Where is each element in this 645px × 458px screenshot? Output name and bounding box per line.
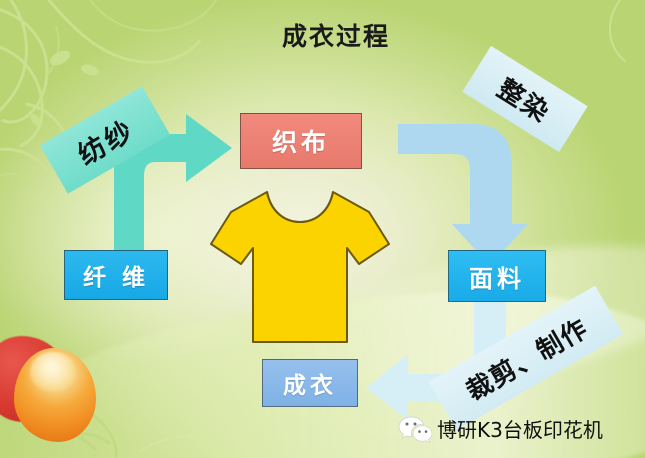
slide-canvas: 成衣过程 织布 纤 维 面料 成衣 纺纱 整染 裁剪、制作 [0,0,645,458]
process-banner-cutting[interactable]: 裁剪、制作 [429,286,623,430]
stage-box-weaving-label: 织布 [272,123,330,159]
process-banner-spinning-label: 纺纱 [69,108,140,172]
wechat-icon [398,415,432,443]
process-banner-dyeing[interactable]: 整染 [462,46,587,152]
page-title: 成衣过程 [236,22,436,52]
process-banner-dyeing-label: 整染 [491,68,558,129]
stage-box-fabric-label: 面料 [469,259,525,294]
decorative-fruit-highlight [30,352,76,392]
stage-box-garment-label: 成衣 [283,366,337,400]
stage-box-fiber[interactable]: 纤 维 [64,250,168,300]
stage-box-weaving[interactable]: 织布 [240,113,362,169]
stage-box-fabric[interactable]: 面料 [448,250,546,302]
watermark: 博研K3台板印花机 [398,414,603,443]
stage-box-garment[interactable]: 成衣 [262,359,358,407]
arrow-right-down-icon [398,118,528,268]
decorative-red-fruit [0,336,68,422]
process-banner-spinning[interactable]: 纺纱 [40,86,170,193]
watermark-text: 博研K3台板印花机 [437,414,603,443]
decorative-orange-fruit [14,348,96,442]
process-banner-cutting-label: 裁剪、制作 [458,308,593,408]
stage-box-fiber-label: 纤 维 [83,258,149,292]
tshirt-icon [205,182,395,352]
